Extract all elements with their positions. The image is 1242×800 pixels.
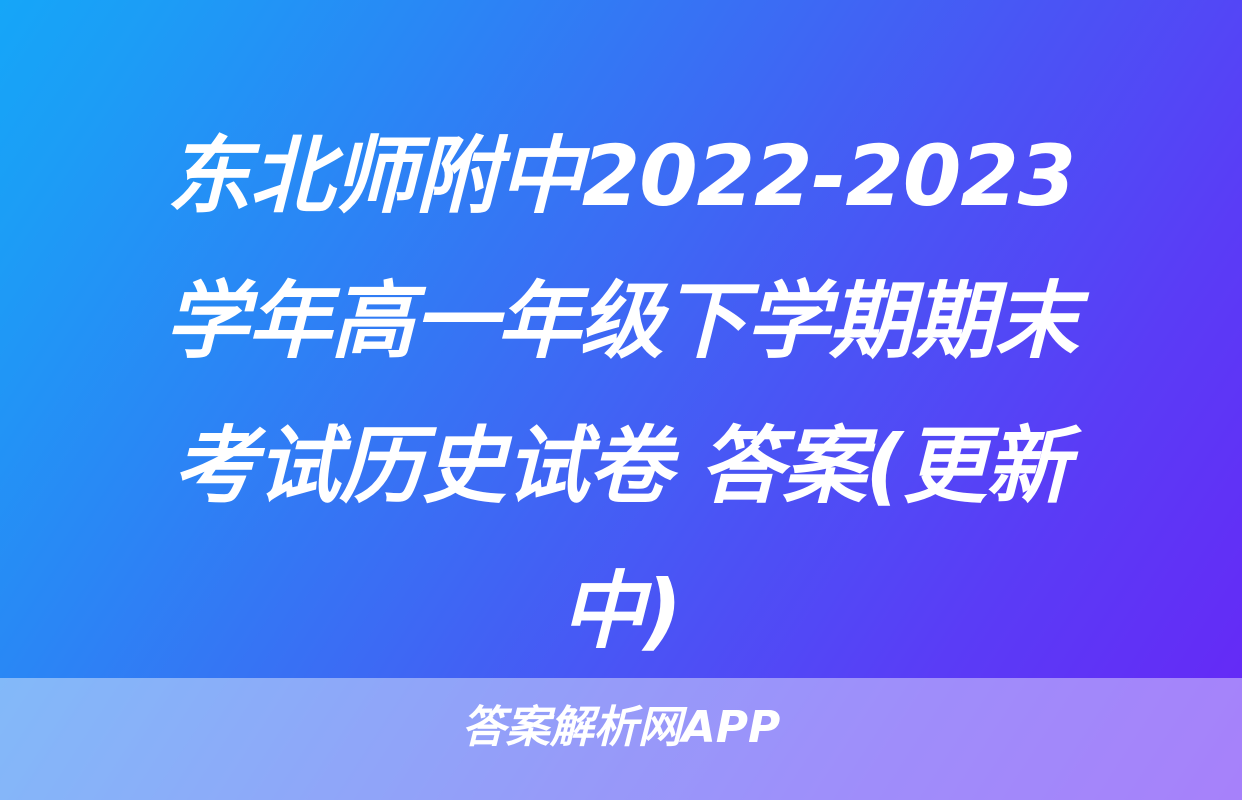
poster-canvas: 东北师附中2022-2023 学年高一年级下学期期末 考试历史试卷 答案(更新 … <box>0 0 1242 800</box>
page-title-line-3: 考试历史试卷 答案(更新 <box>0 394 1242 539</box>
page-title-line-4: 中) <box>0 539 1242 684</box>
page-title: 东北师附中2022-2023 学年高一年级下学期期末 考试历史试卷 答案(更新 … <box>0 0 1242 684</box>
page-title-line-1: 东北师附中2022-2023 <box>0 104 1242 249</box>
page-title-line-2: 学年高一年级下学期期末 <box>0 249 1242 394</box>
brand-watermark: 答案解析网APP <box>0 700 1242 756</box>
brand-watermark-label: 答案解析网APP <box>462 700 781 756</box>
